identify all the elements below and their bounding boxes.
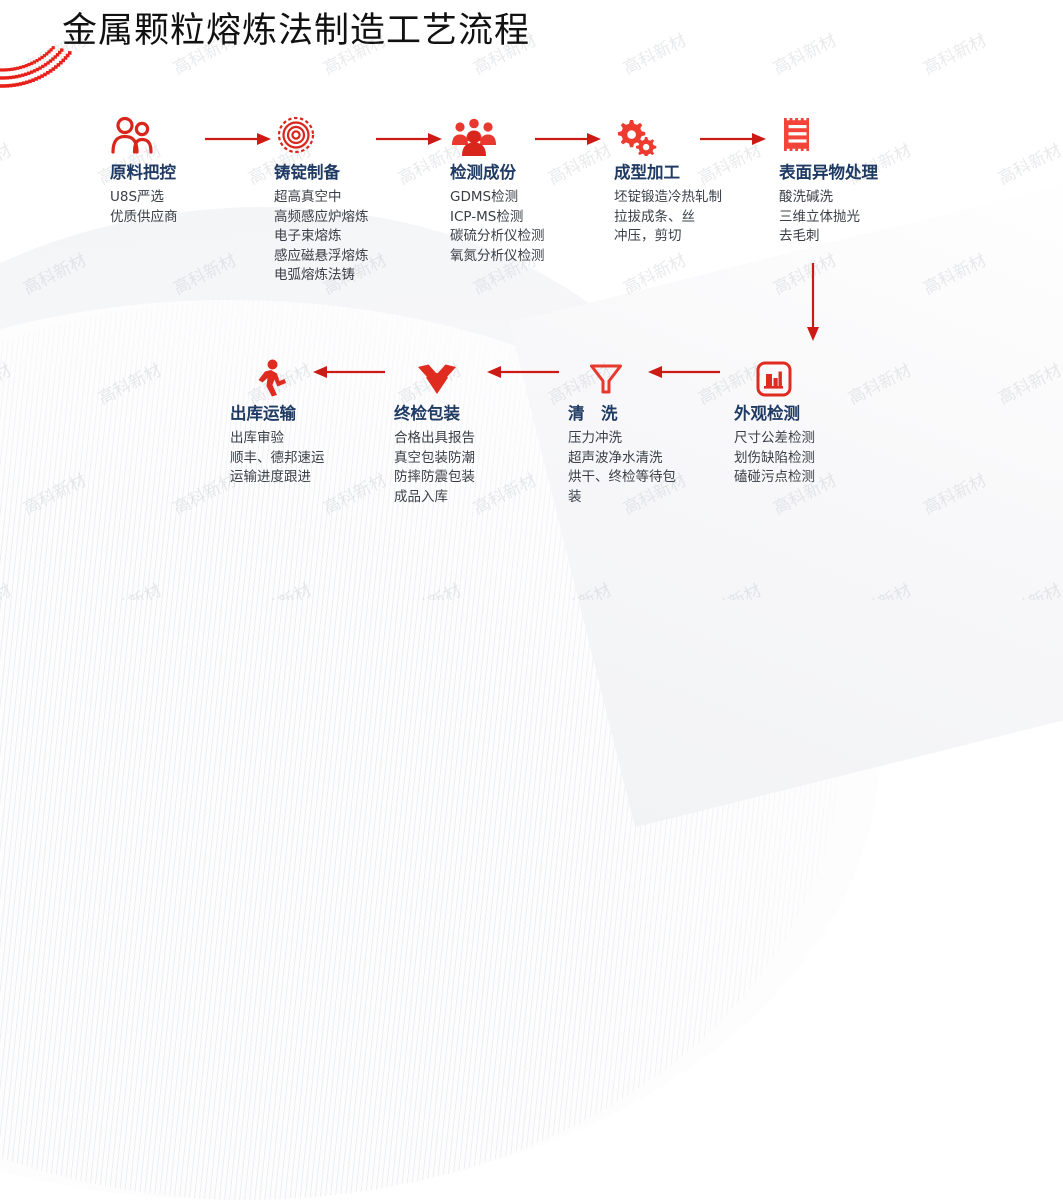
step-composition-testing[interactable]: 检测成份 GDMS检测 ICP-MS检测 碳硫分析仪检测 氧氮分析仪检测 (450, 112, 545, 266)
step-line: 三维立体抛光 (779, 208, 878, 228)
step-line: 高频感应炉熔炼 (274, 208, 369, 228)
step-detail-lines: GDMS检测 ICP-MS检测 碳硫分析仪检测 氧氮分析仪检测 (450, 188, 545, 266)
step-line: 坯锭锻造冷热轧制 (614, 188, 722, 208)
step-line: 尺寸公差检测 (734, 429, 815, 449)
step-line: 优质供应商 (110, 208, 178, 228)
step-final-inspection-packaging[interactable]: 终检包装 合格出具报告 真空包装防潮 防摔防震包装 成品入库 (394, 353, 475, 507)
step-line: 去毛刺 (779, 227, 878, 247)
background-decoration (0, 0, 1063, 600)
step-detail-lines: 合格出具报告 真空包装防潮 防摔防震包装 成品入库 (394, 429, 475, 507)
step-detail-lines: 出库审验 顺丰、德邦速运 运输进度跟进 (230, 429, 325, 488)
funnel-icon (568, 353, 686, 397)
gear-ring-icon (274, 112, 369, 156)
arrow-right-1 (205, 131, 271, 147)
arrow-down-5 (805, 263, 821, 341)
factory-box-icon (734, 353, 815, 397)
people-group-icon (450, 112, 545, 156)
two-people-icon (110, 112, 178, 156)
step-detail-lines: 尺寸公差检测 划伤缺陷检测 磕碰污点检测 (734, 429, 815, 488)
ticket-list-icon (779, 112, 878, 156)
arrow-right-3 (535, 131, 601, 147)
page-title: 金属颗粒熔炼法制造工艺流程 (62, 7, 530, 55)
step-raw-material-control[interactable]: 原料把控 U8S严选 优质供应商 (110, 112, 178, 227)
step-line: GDMS检测 (450, 188, 545, 208)
open-box-icon (394, 353, 475, 397)
step-line: 磕碰污点检测 (734, 468, 815, 488)
two-gears-icon (614, 112, 722, 156)
step-title: 表面异物处理 (779, 162, 878, 184)
step-title: 出库运输 (230, 403, 325, 425)
step-title: 清 洗 (568, 403, 686, 425)
step-line: 防摔防震包装 (394, 468, 475, 488)
arrow-left-7 (487, 364, 559, 380)
step-line: 氧氮分析仪检测 (450, 247, 545, 267)
step-title: 外观检测 (734, 403, 815, 425)
step-line: 电弧熔炼法铸 (274, 266, 369, 286)
step-line: 成品入库 (394, 488, 475, 508)
step-line: 真空包装防潮 (394, 449, 475, 469)
walking-person-icon (230, 353, 325, 397)
step-line: 酸洗碱洗 (779, 188, 878, 208)
step-ingot-preparation[interactable]: 铸锭制备 超高真空中 高频感应炉熔炼 电子束熔炼 感应磁悬浮熔炼 电弧熔炼法铸 (274, 112, 369, 286)
step-detail-lines: U8S严选 优质供应商 (110, 188, 178, 227)
step-detail-lines: 压力冲洗 超声波净水清洗 烘干、终检等待包装 (568, 429, 680, 507)
step-line: 出库审验 (230, 429, 325, 449)
step-appearance-inspection[interactable]: 外观检测 尺寸公差检测 划伤缺陷检测 磕碰污点检测 (734, 353, 815, 488)
step-title: 终检包装 (394, 403, 475, 425)
step-line: 碳硫分析仪检测 (450, 227, 545, 247)
step-title: 检测成份 (450, 162, 545, 184)
step-line: 压力冲洗 (568, 429, 680, 449)
step-cleaning[interactable]: 清 洗 压力冲洗 超声波净水清洗 烘干、终检等待包装 (568, 353, 686, 507)
step-title: 原料把控 (110, 162, 178, 184)
arrow-right-2 (376, 131, 442, 147)
step-line: 划伤缺陷检测 (734, 449, 815, 469)
step-surface-treatment[interactable]: 表面异物处理 酸洗碱洗 三维立体抛光 去毛刺 (779, 112, 878, 247)
step-line: 超高真空中 (274, 188, 369, 208)
step-line: 感应磁悬浮熔炼 (274, 247, 369, 267)
background-swoosh-upper (0, 166, 771, 1010)
step-line: 超声波净水清洗 (568, 449, 680, 469)
step-line: 合格出具报告 (394, 429, 475, 449)
step-detail-lines: 酸洗碱洗 三维立体抛光 去毛刺 (779, 188, 878, 247)
step-line: 电子束熔炼 (274, 227, 369, 247)
step-line: 冲压，剪切 (614, 227, 722, 247)
step-detail-lines: 坯锭锻造冷热轧制 拉拔成条、丝 冲压，剪切 (614, 188, 722, 247)
step-line: 烘干、终检等待包装 (568, 468, 680, 507)
watermark-layer: 高科新材高科新材高科新材高科新材高科新材高科新材高科新材高科新材高科新材高科新材… (0, 0, 1063, 600)
step-line: ICP-MS检测 (450, 208, 545, 228)
step-line: 顺丰、德邦速运 (230, 449, 325, 469)
step-line: U8S严选 (110, 188, 178, 208)
step-title: 铸锭制备 (274, 162, 369, 184)
step-title: 成型加工 (614, 162, 722, 184)
step-forming-processing[interactable]: 成型加工 坯锭锻造冷热轧制 拉拔成条、丝 冲压，剪切 (614, 112, 722, 247)
step-line: 拉拔成条、丝 (614, 208, 722, 228)
step-line: 运输进度跟进 (230, 468, 325, 488)
step-detail-lines: 超高真空中 高频感应炉熔炼 电子束熔炼 感应磁悬浮熔炼 电弧熔炼法铸 (274, 188, 369, 286)
step-outbound-transport[interactable]: 出库运输 出库审验 顺丰、德邦速运 运输进度跟进 (230, 353, 325, 488)
